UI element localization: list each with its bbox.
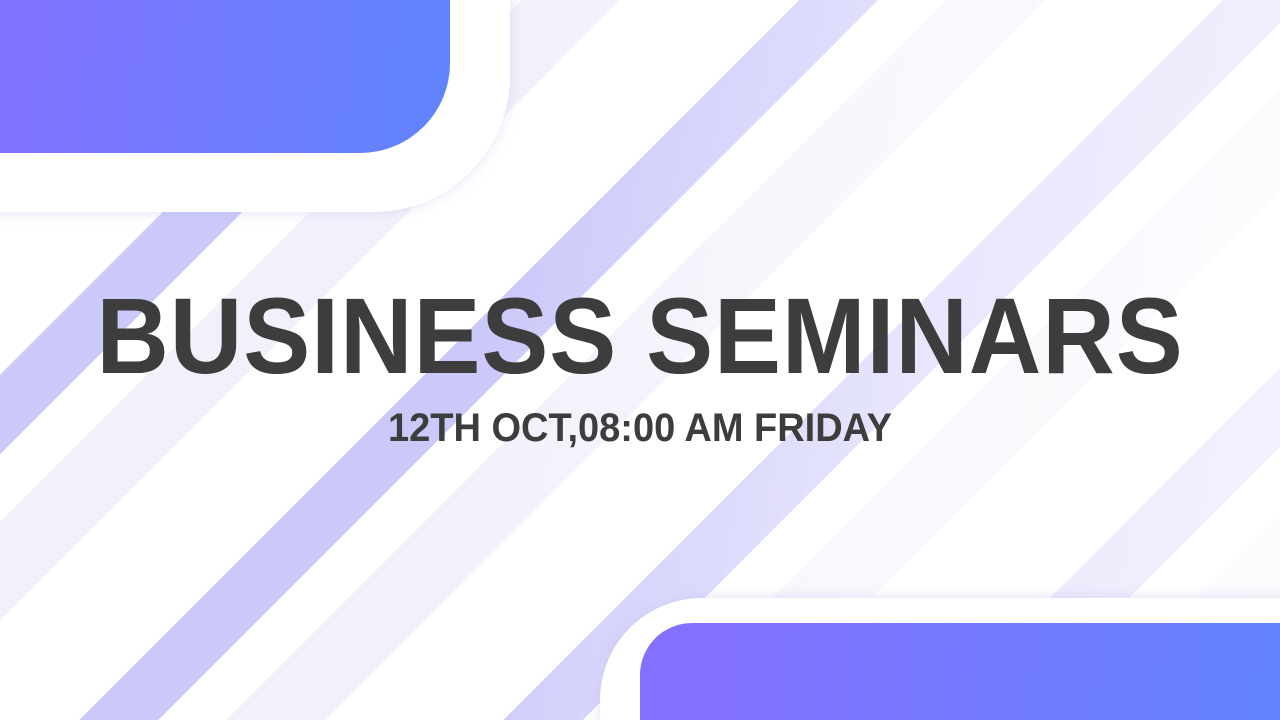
top-left-corner-block (0, 0, 510, 212)
bottom-right-corner-block (600, 598, 1280, 720)
top-left-block-gradient (0, 0, 450, 153)
banner-headline: BUSINESS SEMINARS (45, 282, 1235, 390)
banner-text-group: BUSINESS SEMINARS 12TH OCT,08:00 AM FRID… (0, 282, 1280, 448)
bottom-right-block-gradient (640, 623, 1280, 720)
event-banner: BUSINESS SEMINARS 12TH OCT,08:00 AM FRID… (0, 0, 1280, 720)
banner-subline: 12TH OCT,08:00 AM FRIDAY (32, 408, 1248, 448)
